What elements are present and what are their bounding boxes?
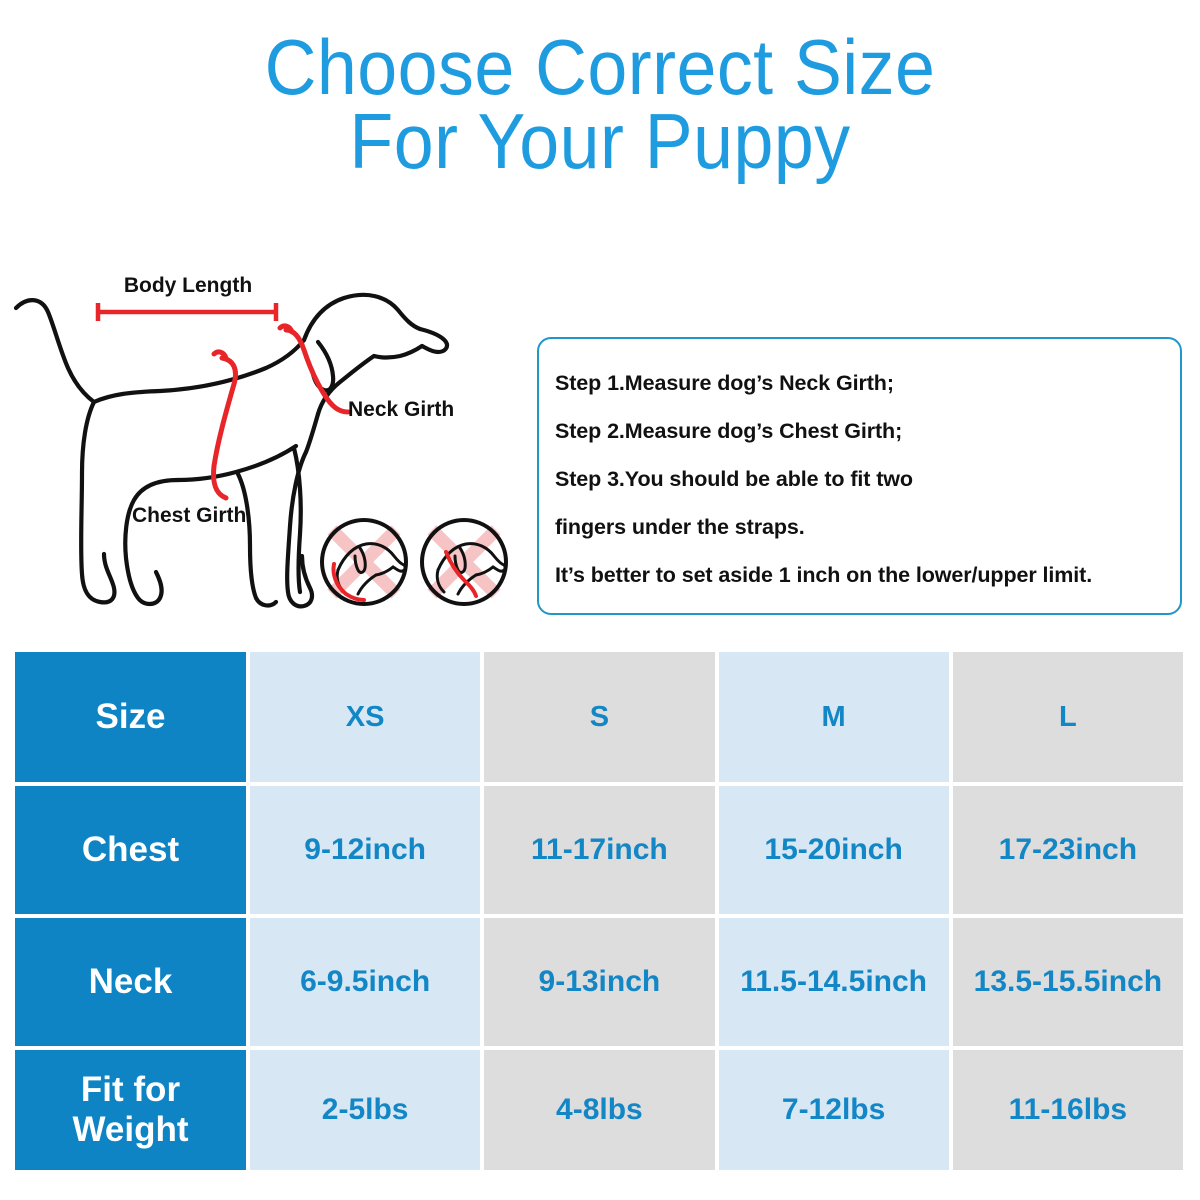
row-label-chest: Chest xyxy=(15,786,246,914)
neck-girth-label: Neck Girth xyxy=(348,398,454,421)
table-header-row: Size XS S M L xyxy=(15,652,1183,782)
body-length-measure-bar xyxy=(98,303,276,321)
incorrect-neck-measure-1-icon xyxy=(322,520,406,604)
chest-xs-value: 9-12inch xyxy=(250,786,480,914)
page-title-line-1: Choose Correct Size xyxy=(48,30,1152,104)
instruction-step-3: Step 3.You should be able to fit two xyxy=(555,455,1164,503)
measuring-instructions-box: Step 1.Measure dog’s Neck Girth; Step 2.… xyxy=(537,337,1182,615)
table-row: Neck 6-9.5inch 9-13inch 11.5-14.5inch 13… xyxy=(15,918,1183,1046)
neck-m-value: 11.5-14.5inch xyxy=(719,918,949,1046)
neck-l-value: 13.5-15.5inch xyxy=(953,918,1183,1046)
table-row: Fit for Weight 2-5lbs 4-8lbs 7-12lbs 11-… xyxy=(15,1050,1183,1170)
column-header-m: M xyxy=(719,652,949,782)
row-label-fit-for-weight-line-1: Fit for xyxy=(72,1070,188,1110)
dog-outline-icon xyxy=(16,295,447,607)
instruction-step-3-continued: fingers under the straps. xyxy=(555,503,1164,551)
chest-m-value: 15-20inch xyxy=(719,786,949,914)
dog-measurement-diagram: Body Length Neck Girth Chest Girth xyxy=(8,268,518,638)
column-header-xs: XS xyxy=(250,652,480,782)
instruction-step-2: Step 2.Measure dog’s Chest Girth; xyxy=(555,407,1164,455)
column-header-s: S xyxy=(484,652,714,782)
size-chart-table: Size XS S M L Chest 9-12inch 11-17inch 1… xyxy=(15,652,1183,1170)
row-label-fit-for-weight: Fit for Weight xyxy=(15,1050,246,1170)
chest-girth-label: Chest Girth xyxy=(132,504,246,527)
weight-xs-value: 2-5lbs xyxy=(250,1050,480,1170)
neck-xs-value: 6-9.5inch xyxy=(250,918,480,1046)
page-title: Choose Correct Size For Your Puppy xyxy=(0,30,1200,178)
page-title-line-2: For Your Puppy xyxy=(48,104,1152,178)
body-length-label: Body Length xyxy=(124,274,252,297)
table-header-size-label: Size xyxy=(15,652,246,782)
table-row: Chest 9-12inch 11-17inch 15-20inch 17-23… xyxy=(15,786,1183,914)
incorrect-neck-measure-2-icon xyxy=(422,520,506,604)
column-header-l: L xyxy=(953,652,1183,782)
chest-l-value: 17-23inch xyxy=(953,786,1183,914)
weight-s-value: 4-8lbs xyxy=(484,1050,714,1170)
row-label-fit-for-weight-line-2: Weight xyxy=(72,1110,188,1150)
row-label-neck: Neck xyxy=(15,918,246,1046)
chest-s-value: 11-17inch xyxy=(484,786,714,914)
weight-l-value: 11-16lbs xyxy=(953,1050,1183,1170)
neck-s-value: 9-13inch xyxy=(484,918,714,1046)
instruction-step-1: Step 1.Measure dog’s Neck Girth; xyxy=(555,359,1164,407)
instruction-note: It’s better to set aside 1 inch on the l… xyxy=(555,551,1164,599)
weight-m-value: 7-12lbs xyxy=(719,1050,949,1170)
